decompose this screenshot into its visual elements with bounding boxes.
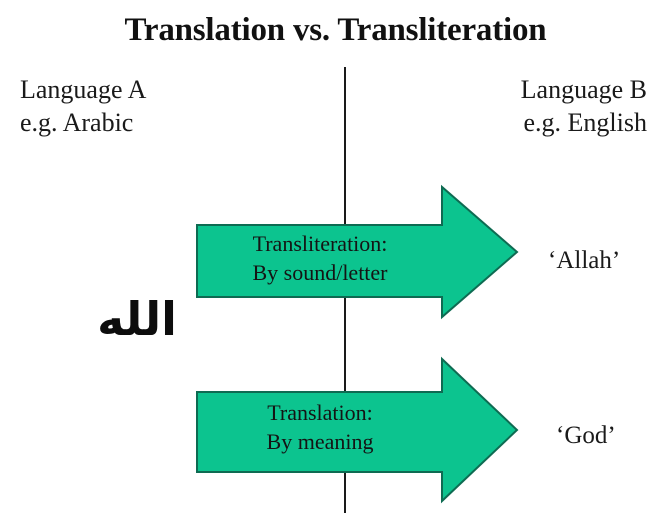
- language-a-example: e.g. Arabic: [20, 107, 146, 140]
- translation-result: ‘God’: [556, 422, 616, 450]
- language-b-label: Language B e.g. English: [521, 74, 647, 140]
- language-a-heading: Language A: [20, 75, 146, 104]
- page-title: Translation vs. Transliteration: [0, 12, 671, 49]
- language-b-example: e.g. English: [521, 107, 647, 140]
- diagram-canvas: Translation vs. Transliteration Language…: [0, 0, 671, 513]
- transliteration-result: ‘Allah’: [548, 247, 620, 275]
- arabic-source-word: الله: [72, 296, 202, 342]
- language-b-heading: Language B: [521, 75, 647, 104]
- transliteration-arrow-polygon: [197, 187, 517, 317]
- translation-arrow-polygon: [197, 359, 517, 501]
- transliteration-arrow-shape: [194, 184, 520, 320]
- language-a-label: Language A e.g. Arabic: [20, 74, 146, 140]
- translation-arrow-shape: [194, 356, 520, 504]
